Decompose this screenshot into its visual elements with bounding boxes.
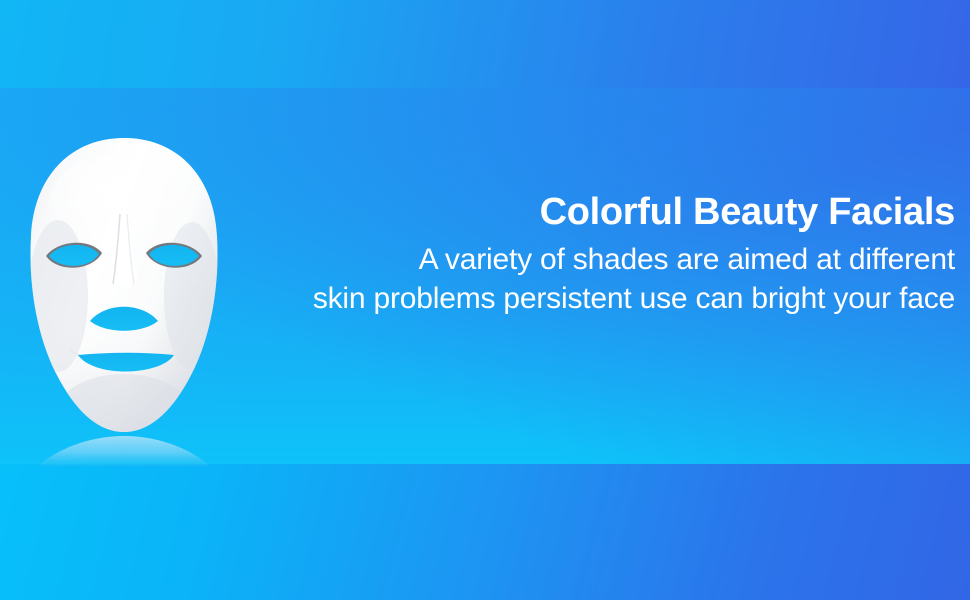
subtitle-line-1: A variety of shades are aimed at differe… <box>195 240 955 279</box>
mask-reflection <box>38 436 210 466</box>
marketing-copy: Colorful Beauty Facials A variety of sha… <box>195 190 955 318</box>
subtitle-line-2: skin problems persistent use can bright … <box>195 279 955 318</box>
page-title: Colorful Beauty Facials <box>195 190 955 234</box>
mask-shell <box>28 138 220 442</box>
background-band-top <box>0 0 970 88</box>
product-banner: Colorful Beauty Facials A variety of sha… <box>0 0 970 600</box>
background-band-bottom <box>0 464 970 600</box>
